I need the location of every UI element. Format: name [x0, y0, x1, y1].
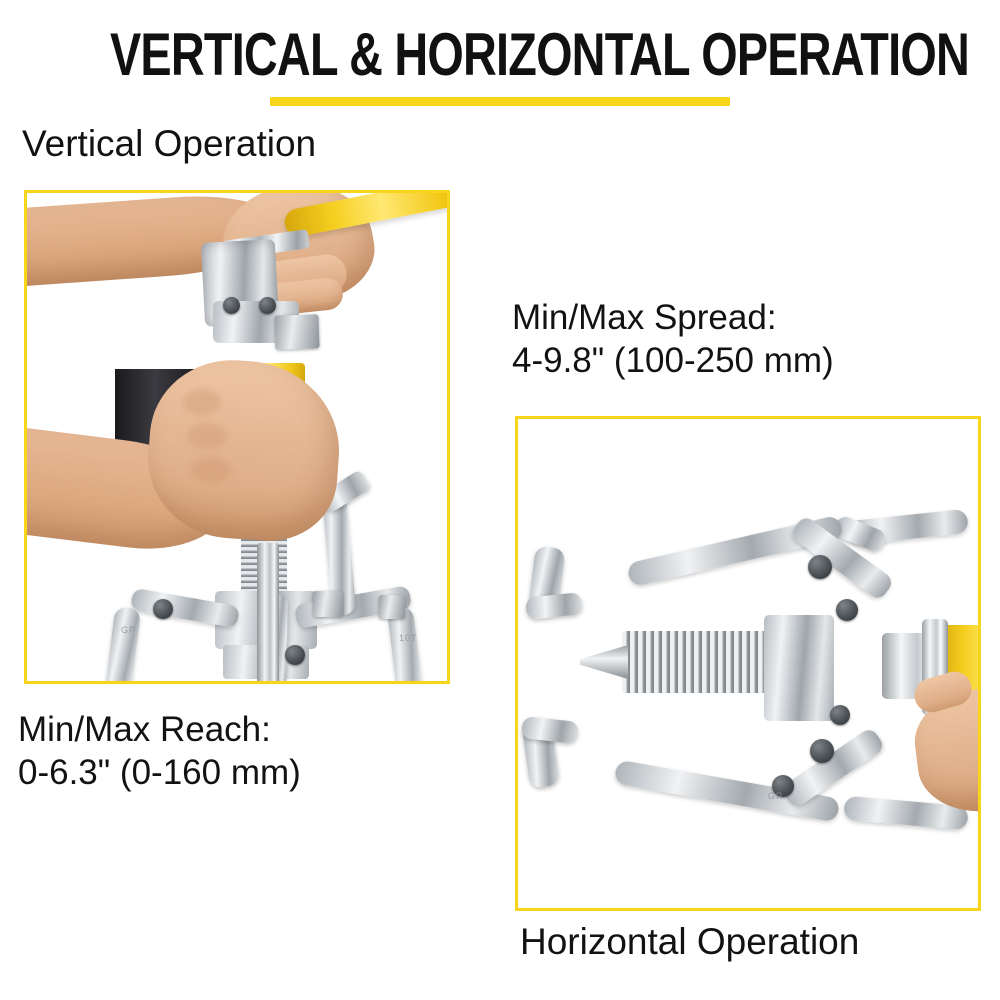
h-bolt-upper-pivot [808, 555, 832, 579]
h-jaw-marking: GP [768, 791, 783, 801]
jaw-right-pivot-nut [313, 591, 343, 617]
jaw-far-pivot-nut [379, 595, 405, 619]
spec-spread-value: 4-9.8" (100-250 mm) [512, 339, 834, 382]
jaw-left-leg [95, 606, 142, 681]
h-jaw-upper-foot [525, 592, 583, 620]
vertical-operation-photo-panel: GP 10T [24, 190, 450, 684]
lower-hand-knuckle-3 [191, 457, 231, 483]
infographic-page: VERTICAL & HORIZONTAL OPERATION Vertical… [0, 0, 1000, 1000]
vertical-operation-caption: Vertical Operation [22, 122, 316, 165]
h-center-yoke-block [764, 615, 834, 721]
lower-hand-knuckle-1 [183, 389, 221, 415]
h-bolt-center [830, 705, 850, 725]
h-bolt-upper-yoke [836, 599, 858, 621]
spec-reach: Min/Max Reach: 0-6.3" (0-160 mm) [18, 708, 301, 794]
hex-nut-upper [274, 314, 319, 350]
title-underline-rule [270, 97, 730, 106]
spec-reach-label: Min/Max Reach: [18, 710, 271, 749]
spec-spread-label: Min/Max Spread: [512, 298, 777, 337]
h-spindle-point-tip [580, 645, 628, 679]
pump-head-bolt-left [223, 297, 240, 314]
jaw-marking-left: GP [121, 625, 136, 635]
page-title: VERTICAL & HORIZONTAL OPERATION [110, 24, 890, 86]
spindle-lock-bolt [285, 645, 305, 665]
lower-hand-knuckle-2 [187, 423, 227, 449]
horizontal-operation-photo-panel: GP [515, 416, 981, 911]
spec-spread: Min/Max Spread: 4-9.8" (100-250 mm) [512, 296, 834, 382]
center-pull-rod [257, 543, 279, 681]
jaw-left-pivot-bolt [153, 599, 173, 619]
horizontal-photo: GP [518, 419, 978, 908]
jaw-marking-right: 10T [399, 633, 418, 643]
vertical-photo: GP 10T [27, 193, 447, 681]
h-bolt-lower-yoke [810, 739, 834, 763]
pump-head-bolt-right [259, 297, 276, 314]
spec-reach-value: 0-6.3" (0-160 mm) [18, 751, 301, 794]
horizontal-operation-caption: Horizontal Operation [520, 920, 859, 963]
